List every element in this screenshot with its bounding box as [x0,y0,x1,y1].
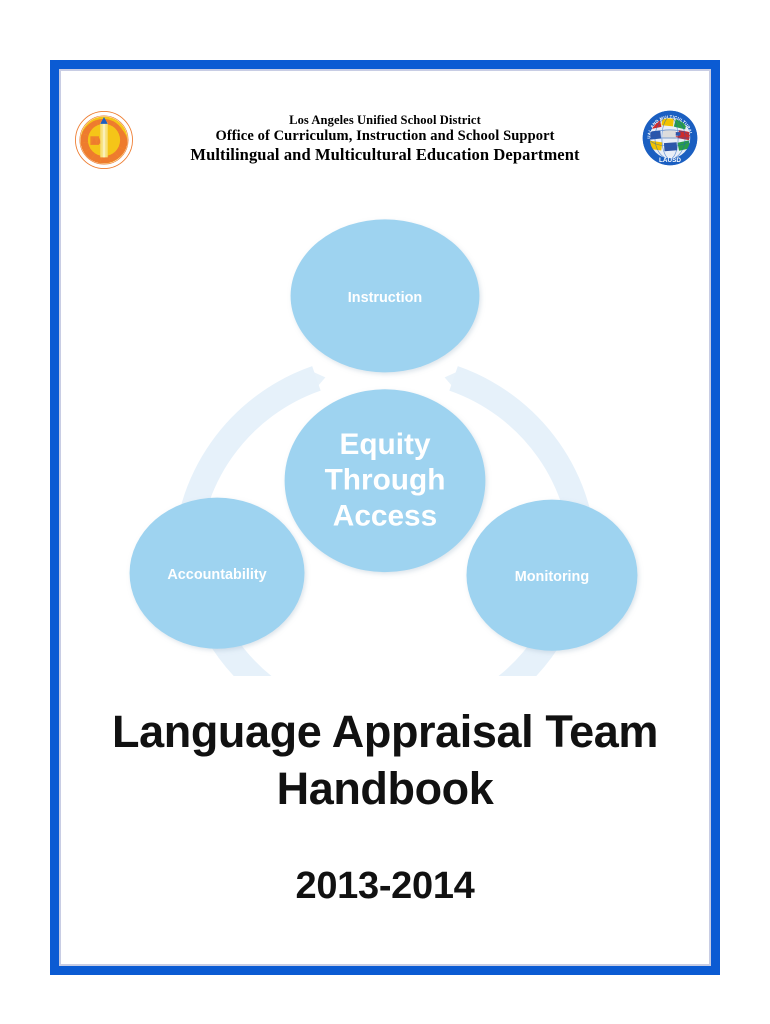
page-border-inner: MULTILINGUAL AND MULTICULTURAL EDUCATION… [59,69,711,966]
mmed-seal-icon: MULTILINGUAL AND MULTICULTURAL EDUCATION… [641,109,699,171]
header-line-department: Multilingual and Multicultural Education… [171,145,599,164]
cycle-node-instruction-label: Instruction [348,290,422,306]
document-title: Language Appraisal Team Handbook [61,703,709,817]
page-border: MULTILINGUAL AND MULTICULTURAL EDUCATION… [50,60,720,975]
header-line-district: Los Angeles Unified School District [171,113,599,128]
cycle-node-accountability[interactable]: Accountability [130,498,305,649]
header-line-office: Office of Curriculum, Instruction and Sc… [171,128,599,145]
lausd-seal-icon [73,109,135,171]
title-block: Language Appraisal Team Handbook 2013-20… [61,703,709,908]
cycle-node-accountability-label: Accountability [167,567,266,583]
header-title-block: Los Angeles Unified School District Offi… [171,113,599,164]
cycle-center-label-line3: Access [333,499,437,532]
page-content: MULTILINGUAL AND MULTICULTURAL EDUCATION… [61,71,709,964]
cycle-center-label-line2: Through [325,464,446,497]
arc-monitoring-to-accountability [217,632,553,676]
equity-cycle-diagram: Instruction Accountability Monitoring [61,201,709,676]
cycle-center-node[interactable]: Equity Through Access [285,389,486,572]
document-header: MULTILINGUAL AND MULTICULTURAL EDUCATION… [61,89,709,175]
cycle-node-instruction[interactable]: Instruction [291,219,480,372]
cycle-node-monitoring[interactable]: Monitoring [466,500,637,651]
mmed-seal-label: LAUSD [659,157,681,164]
cycle-node-monitoring-label: Monitoring [515,569,589,585]
cycle-center-label-line1: Equity [339,428,430,461]
document-year: 2013-2014 [61,865,709,908]
